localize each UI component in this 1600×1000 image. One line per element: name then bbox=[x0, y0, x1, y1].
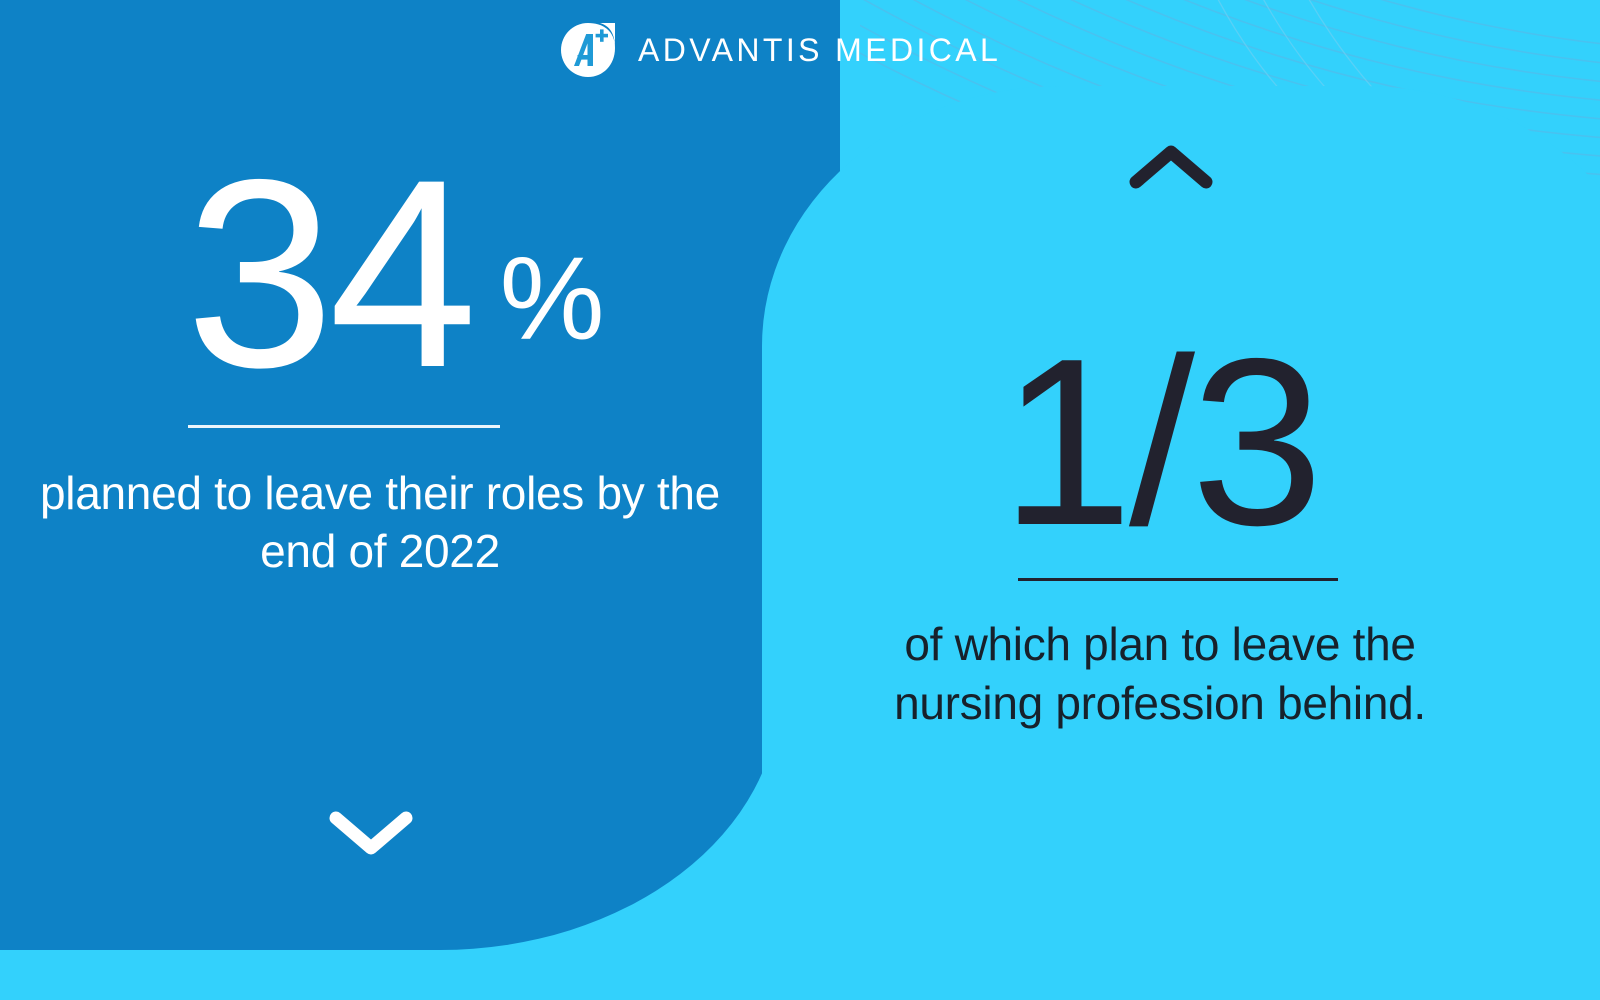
chevron-down-icon bbox=[328, 808, 414, 858]
stat-value-row-left: 34 % bbox=[0, 150, 760, 397]
stat-caption-left: planned to leave their roles by the end … bbox=[0, 464, 760, 582]
divider-rule-left bbox=[188, 425, 500, 428]
stat-unit-left: % bbox=[500, 240, 605, 358]
brand-logo[interactable]: ADVANTIS MEDICAL bbox=[560, 22, 1001, 78]
stat-block-left: 34 % planned to leave their roles by the… bbox=[0, 150, 760, 581]
stat-block-right: 1/3 of which plan to leave the nursing p… bbox=[790, 330, 1530, 733]
divider-rule-right bbox=[1018, 578, 1338, 581]
stat-caption-right: of which plan to leave the nursing profe… bbox=[790, 615, 1530, 733]
stat-value-left: 34 bbox=[185, 150, 471, 397]
infographic-canvas: ADVANTIS MEDICAL 34 % planned to leave t… bbox=[0, 0, 1600, 1000]
advantis-a-plus-mark-icon bbox=[560, 22, 616, 78]
stat-value-right: 1/3 bbox=[790, 330, 1530, 556]
chevron-up-icon bbox=[1128, 142, 1214, 192]
brand-name: ADVANTIS MEDICAL bbox=[638, 34, 1001, 66]
